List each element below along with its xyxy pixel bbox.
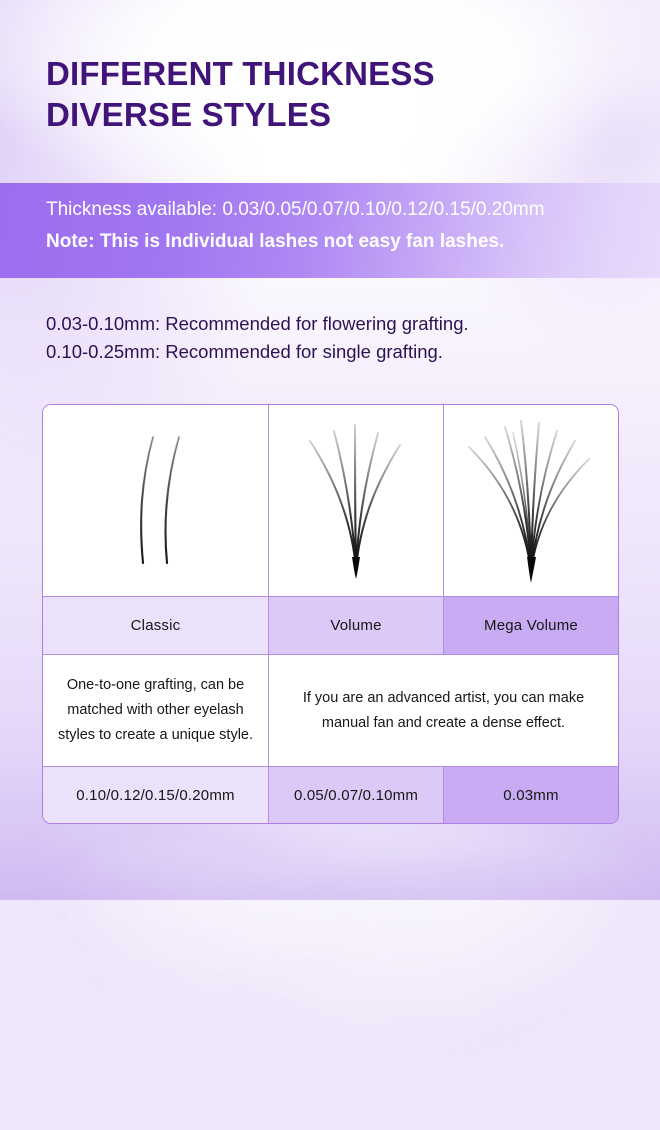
recommendation-block: 0.03-0.10mm: Recommended for flowering g… [46,310,626,366]
recommendation-line-2: 0.10-0.25mm: Recommended for single graf… [46,338,626,366]
mega-volume-lash-cell [444,405,618,597]
thickness-volume: 0.05/0.07/0.10mm [269,767,444,823]
table-row-labels: Classic Volume Mega Volume [43,597,618,655]
volume-fan-illustration [286,411,426,591]
classic-lash-cell [43,405,269,597]
label-mega-volume: Mega Volume [444,597,618,655]
recommendation-line-1: 0.03-0.10mm: Recommended for flowering g… [46,310,626,338]
volume-lash-cell [269,405,444,597]
thickness-available-text: Thickness available: 0.03/0.05/0.07/0.10… [46,199,545,221]
label-volume: Volume [269,597,444,655]
label-classic: Classic [43,597,269,655]
banner-note-text: Note: This is Individual lashes not easy… [46,231,504,253]
description-classic: One-to-one grafting, can be matched with… [43,655,269,767]
page-title-line-2: DIVERSE STYLES [46,94,626,135]
table-row-illustrations [43,405,618,597]
thickness-banner: Thickness available: 0.03/0.05/0.07/0.10… [0,183,660,278]
page-title: DIFFERENT THICKNESS DIVERSE STYLES [46,53,626,135]
table-row-descriptions: One-to-one grafting, can be matched with… [43,655,618,767]
table-row-thickness: 0.10/0.12/0.15/0.20mm 0.05/0.07/0.10mm 0… [43,767,618,823]
infographic-page: DIFFERENT THICKNESS DIVERSE STYLES Thick… [0,0,660,900]
mega-volume-fan-illustration [451,411,611,591]
thickness-classic: 0.10/0.12/0.15/0.20mm [43,767,269,823]
description-volume-mega: If you are an advanced artist, you can m… [269,655,618,767]
classic-lash-illustration [91,411,221,591]
thickness-mega-volume: 0.03mm [444,767,618,823]
lash-style-comparison-table: Classic Volume Mega Volume One-to-one gr… [42,404,619,824]
page-title-line-1: DIFFERENT THICKNESS [46,53,626,94]
